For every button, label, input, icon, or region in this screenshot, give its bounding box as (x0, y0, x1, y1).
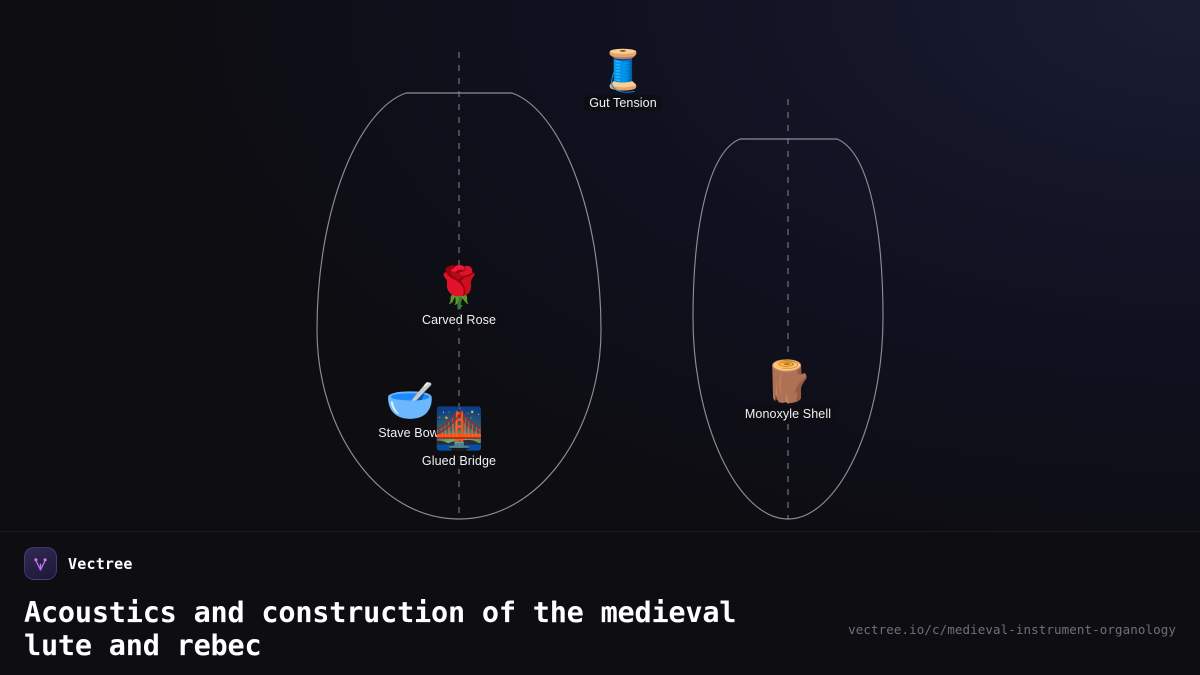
brand-name: Vectree (68, 555, 133, 573)
node-label: Monoxyle Shell (740, 406, 836, 422)
node-label: Glued Bridge (417, 453, 501, 469)
vectree-tree-logo-icon (24, 547, 57, 580)
bridge-at-night-icon: 🌉 (434, 407, 484, 451)
wood-log-icon: 🪵 (763, 360, 813, 404)
instrument-diagram-canvas[interactable]: 🧵 Gut Tension 🌹 Carved Rose 🥣 Stave Bowl… (0, 0, 1200, 531)
thread-spool-icon: 🧵 (598, 49, 648, 93)
source-url: vectree.io/c/medieval-instrument-organol… (848, 622, 1176, 637)
node-monoxyle-shell[interactable]: 🪵 Monoxyle Shell (703, 360, 873, 422)
node-label: Gut Tension (584, 95, 662, 111)
node-label: Carved Rose (417, 312, 501, 328)
node-carved-rose[interactable]: 🌹 Carved Rose (374, 266, 544, 328)
page-title: Acoustics and construction of the mediev… (24, 596, 784, 662)
rose-icon: 🌹 (434, 266, 484, 310)
node-gut-tension[interactable]: 🧵 Gut Tension (538, 49, 708, 111)
node-glued-bridge[interactable]: 🌉 Glued Bridge (374, 407, 544, 469)
footer: Vectree Acoustics and construction of th… (0, 531, 1200, 675)
brand[interactable]: Vectree (24, 547, 133, 580)
